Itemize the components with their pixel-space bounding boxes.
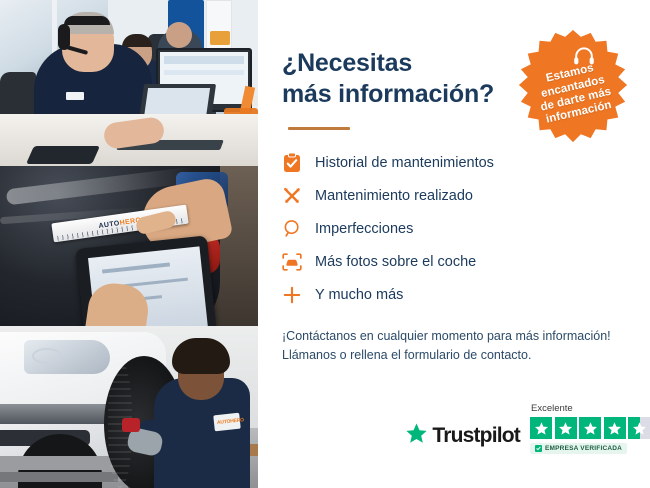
trustpilot-widget[interactable]: Trustpilot Excelente <box>405 403 650 454</box>
headset-band <box>64 16 110 25</box>
photo-column: AUTOHERO <box>0 0 258 488</box>
contact-note: ¡Contáctanos en cualquier momento para m… <box>282 327 626 366</box>
feature-label: Más fotos sobre el coche <box>315 254 476 270</box>
trustpilot-rating-block: Excelente <box>530 403 650 454</box>
rating-star-4 <box>604 417 626 439</box>
list-item: Y mucho más <box>282 278 626 311</box>
trustpilot-logo[interactable]: Trustpilot <box>405 422 520 454</box>
contact-note-line-2: Llámanos o rellena el formulario de cont… <box>282 348 531 362</box>
headline-line-1: ¿Necesitas <box>282 49 412 77</box>
list-item: Mantenimiento realizado <box>282 179 626 212</box>
mechanic-logo-badge: AUTOHERO <box>213 413 241 432</box>
car-photo-frame-icon <box>282 252 302 272</box>
background-colleague-head <box>166 22 192 48</box>
content-panel: ¿Necesitas más información? Historial de… <box>258 0 650 488</box>
agent-name-badge <box>66 92 84 100</box>
rating-star-5-partial <box>628 417 650 439</box>
feature-label: Imperfecciones <box>315 221 413 237</box>
title-underline-divider <box>288 127 350 130</box>
list-item: Imperfecciones <box>282 212 626 245</box>
rating-star-1 <box>530 417 552 439</box>
feature-label: Historial de mantenimientos <box>315 155 494 171</box>
clipboard-check-icon <box>282 153 302 173</box>
trustpilot-rating-label: Excelente <box>531 403 573 414</box>
list-item: Más fotos sobre el coche <box>282 245 626 278</box>
car-headlight <box>24 340 110 374</box>
information-banner: AUTOHERO <box>0 0 650 488</box>
feature-label: Y mucho más <box>315 287 403 303</box>
trustpilot-wordmark: Trustpilot <box>432 424 520 448</box>
wrench-screwdriver-icon <box>282 186 302 206</box>
trustpilot-star-rating <box>530 417 650 439</box>
vehicle-inspection-photo: AUTOHERO <box>0 166 258 326</box>
verified-company-badge: EMPRESA VERIFICADA <box>530 443 627 454</box>
list-item: Historial de mantenimientos <box>282 146 626 179</box>
feature-label: Mantenimiento realizado <box>315 188 473 204</box>
trustpilot-star-icon <box>405 422 428 450</box>
magnifier-icon <box>282 219 302 239</box>
feature-list: Historial de mantenimientos Mantenimient… <box>282 146 626 311</box>
car-lift-arm <box>0 456 124 470</box>
desk-tablet <box>26 146 100 164</box>
rating-star-3 <box>579 417 601 439</box>
mechanic-hair <box>172 338 230 374</box>
status-badge: Estamos encantados de darte más informac… <box>514 28 632 146</box>
workshop-wheel-photo: AUTOHERO <box>0 326 258 488</box>
plus-icon <box>282 285 302 305</box>
car-lift-base <box>0 472 118 482</box>
contact-note-line-1: ¡Contáctanos en cualquier momento para m… <box>282 329 611 343</box>
check-icon <box>535 445 542 452</box>
page-title: ¿Necesitas más información? <box>282 48 522 109</box>
call-center-agents-photo <box>0 0 258 166</box>
verified-label: EMPRESA VERIFICADA <box>545 445 622 452</box>
headline-line-2: más información? <box>282 80 494 108</box>
rating-star-2 <box>555 417 577 439</box>
hand-tool <box>122 418 140 432</box>
